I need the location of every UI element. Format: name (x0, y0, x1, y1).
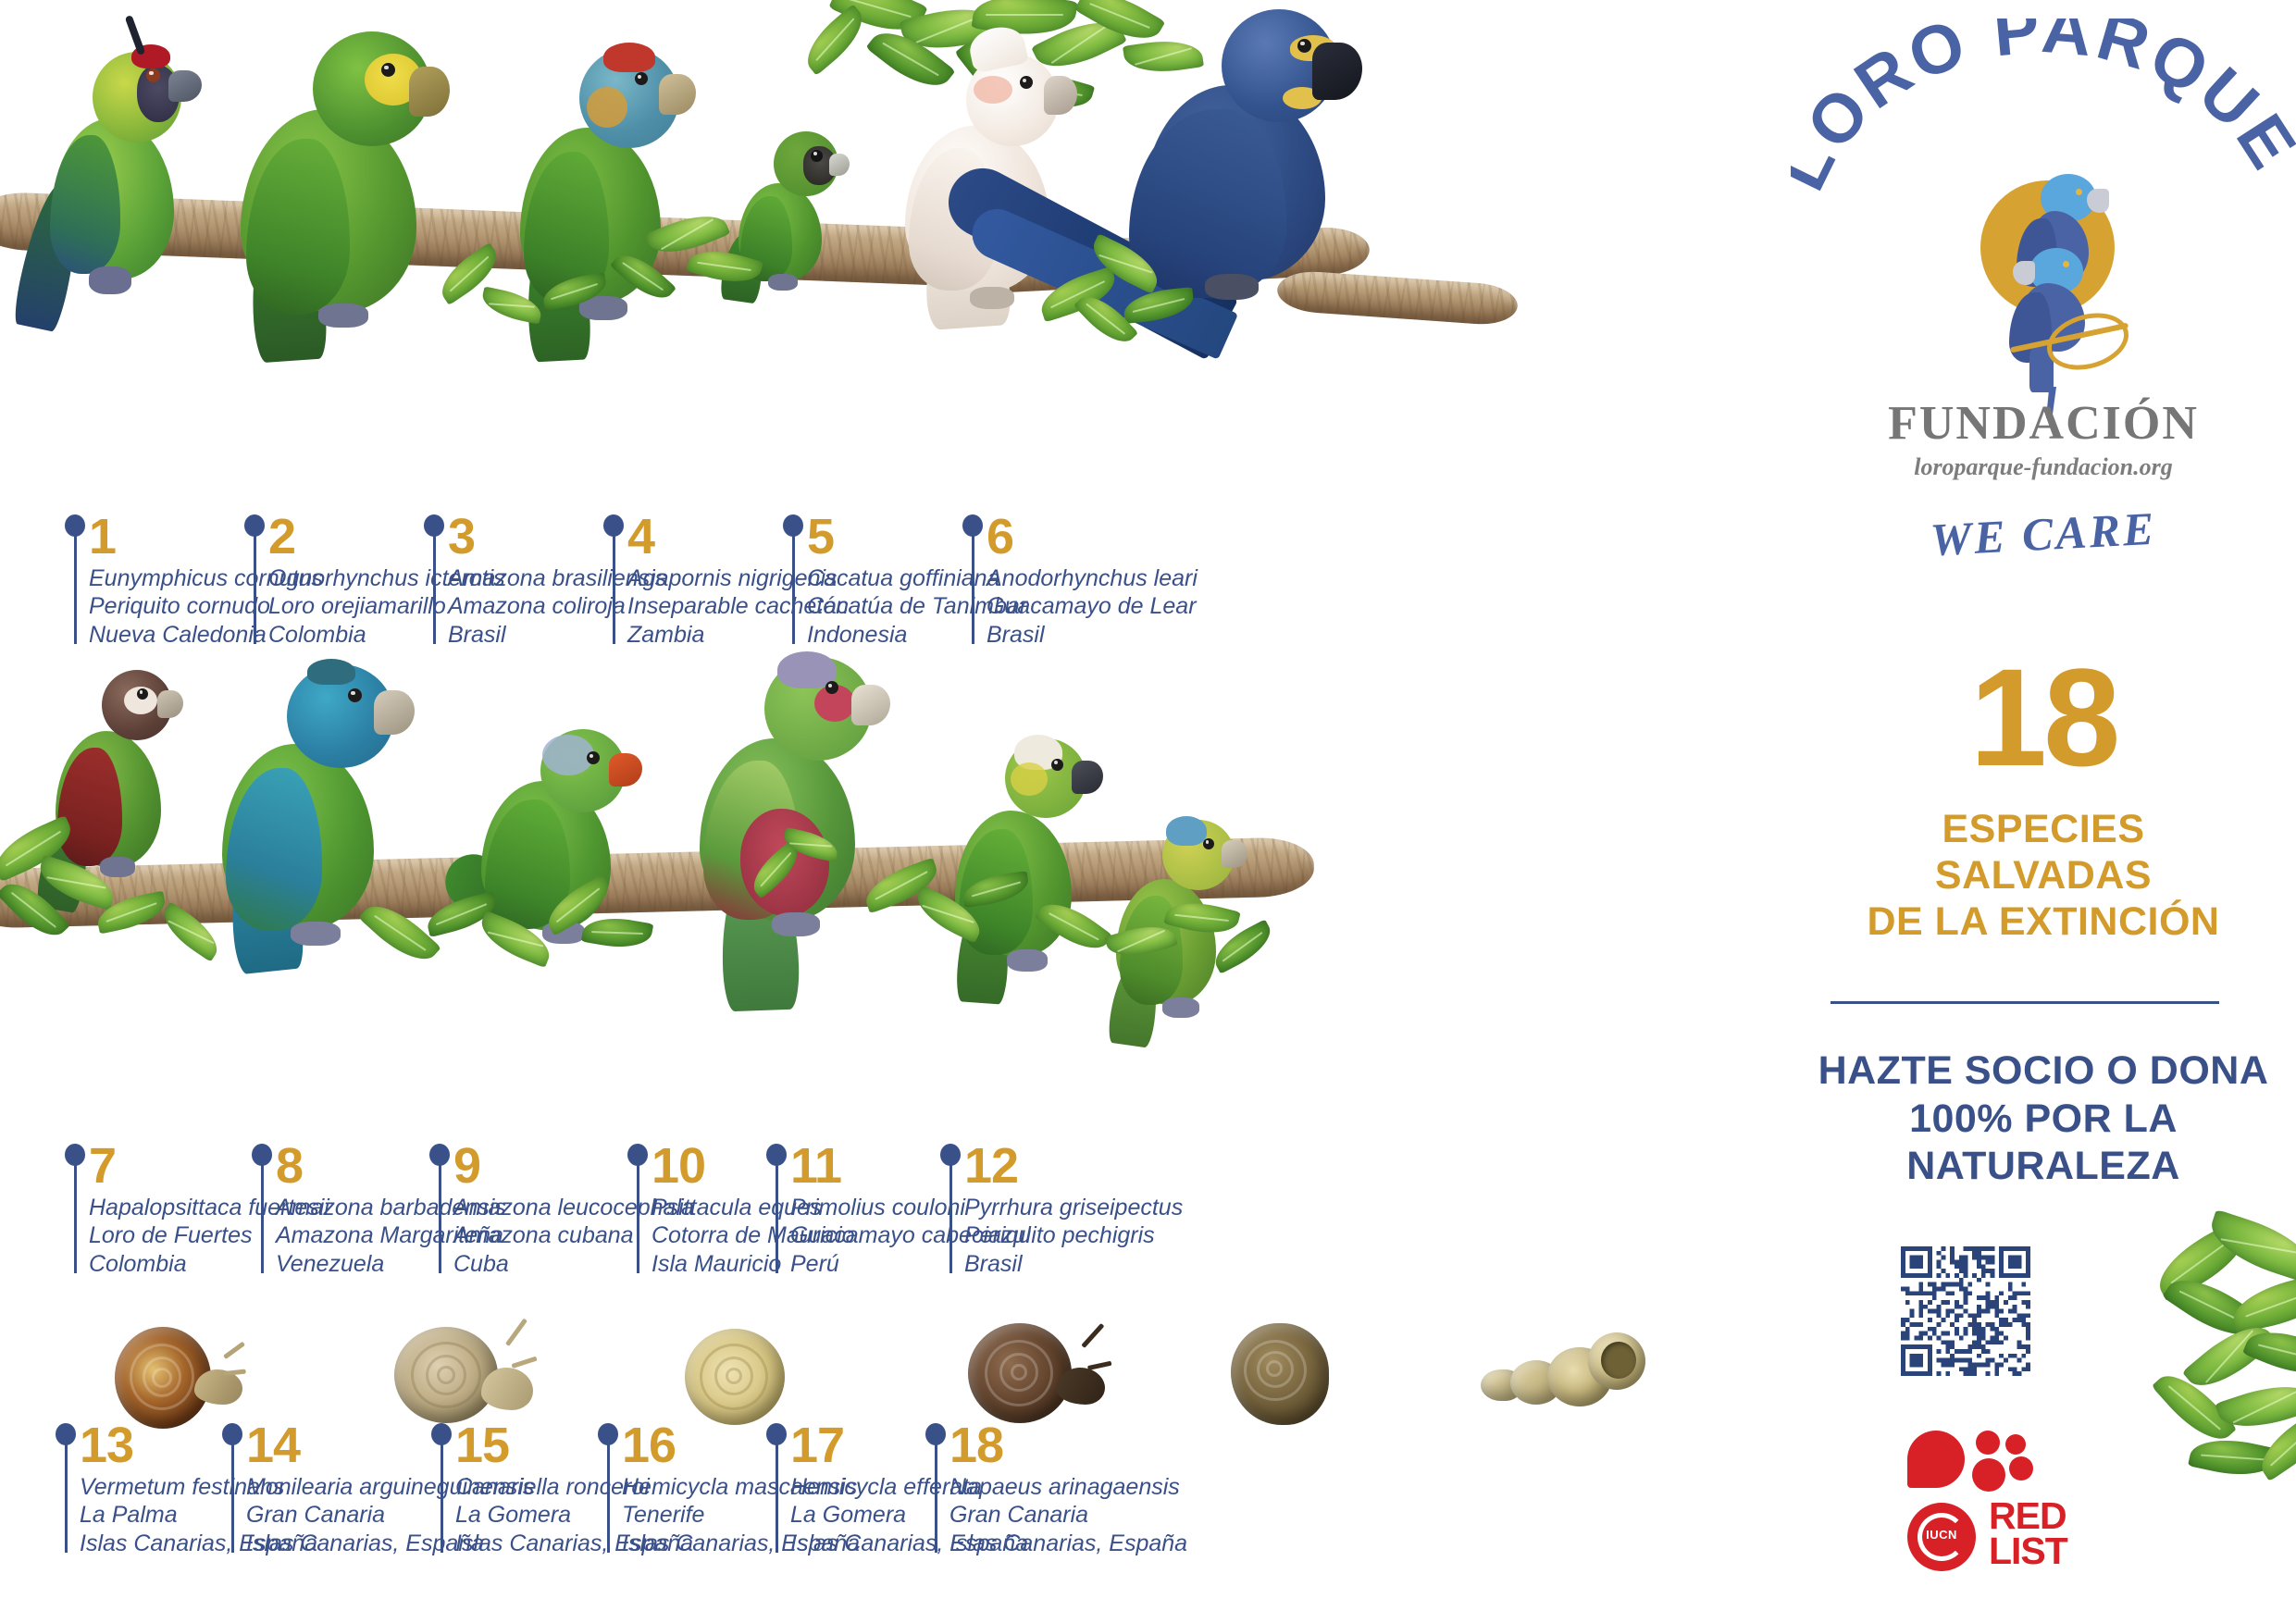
bird-photo-8-amazona-barbadensis (196, 648, 437, 953)
sidebar: LORO PARQUE FUNDA (1791, 0, 2296, 1623)
saved-line-1: ESPECIES (1791, 807, 2296, 853)
photo-band-middle (0, 685, 1791, 1147)
fundacion-url[interactable]: loroparque-fundacion.org (1791, 453, 2296, 481)
species-location-6: Brasil (987, 621, 1198, 650)
saved-line-2: SALVADAS (1791, 853, 2296, 899)
we-care-tagline: WE CARE (1790, 494, 2296, 574)
species-location-12: Brasil (964, 1250, 1183, 1279)
poster: 1Eunymphicus cornutusPeriquito cornudoNu… (0, 0, 2296, 1623)
iucn-label: IUCN (1907, 1528, 1976, 1542)
pin-stem (776, 1158, 778, 1273)
species-scientific-name-6: Anodorhynchus leari (987, 564, 1198, 593)
pin-stem (792, 529, 795, 644)
pin-stem (776, 1438, 778, 1553)
pin-stem (261, 1158, 264, 1273)
iucn-red-list-logo: IUCN RED LIST (1907, 1431, 2092, 1588)
pin-marker-13 (56, 1423, 76, 1562)
donation-qr-code[interactable] (1901, 1246, 2030, 1376)
pin-marker-12 (940, 1144, 961, 1282)
pin-marker-16 (598, 1423, 618, 1562)
snail-photo-13-vermetum-festinans (109, 1323, 248, 1432)
pin-marker-14 (222, 1423, 242, 1562)
bird-photo-2-ognorhynchus-icterotis (209, 9, 478, 342)
pin-marker-8 (252, 1144, 272, 1282)
pin-stem (74, 529, 77, 644)
pin-stem (637, 1158, 639, 1273)
pin-marker-2 (244, 514, 265, 653)
pin-marker-4 (603, 514, 624, 653)
redlist-word-list: LIST (1989, 1534, 2067, 1569)
bird-photo-1-eunymphicus-cornutus (20, 19, 215, 315)
pin-stem (613, 529, 615, 644)
redlist-berry-1 (1976, 1431, 2000, 1455)
species-common-name-18: Gran Canaria (949, 1501, 1187, 1530)
pin-stem (231, 1438, 234, 1553)
redlist-drop-icon (1907, 1431, 1965, 1488)
species-number-18: 18 (949, 1423, 1187, 1469)
species-label-6: 6Anodorhynchus leariGuacamayo de LearBra… (962, 514, 1198, 649)
loro-parque-logo[interactable]: LORO PARQUE (1791, 19, 2296, 389)
pin-marker-18 (925, 1423, 946, 1562)
pin-marker-11 (766, 1144, 787, 1282)
pin-marker-1 (65, 514, 85, 653)
species-common-name-6: Guacamayo de Lear (987, 592, 1198, 621)
pin-marker-6 (962, 514, 983, 653)
cta-line-2: 100% POR LA (1791, 1096, 2296, 1144)
iucn-circle-icon: IUCN (1907, 1503, 1976, 1571)
pin-marker-7 (65, 1144, 85, 1282)
pin-stem (74, 1158, 77, 1273)
photo-band-snails (0, 1321, 1791, 1432)
pin-marker-15 (431, 1423, 452, 1562)
qr-code-image (1901, 1246, 2030, 1376)
pin-stem (972, 529, 974, 644)
saved-line-3: DE LA EXTINCIÓN (1791, 899, 2296, 946)
pin-stem (439, 1158, 441, 1273)
saved-species-caption: ESPECIES SALVADAS DE LA EXTINCIÓN (1791, 807, 2296, 946)
pin-marker-5 (783, 514, 803, 653)
cta-line-1: HAZTE SOCIO O DONA (1791, 1047, 2296, 1096)
pin-marker-10 (627, 1144, 648, 1282)
cta-line-3: NATURALEZA (1791, 1143, 2296, 1191)
species-number-6: 6 (987, 514, 1198, 561)
pin-stem (935, 1438, 937, 1553)
species-label-12: 12Pyrrhura griseipectusPeriquito pechigr… (940, 1144, 1183, 1278)
donation-call-to-action: HAZTE SOCIO O DONA 100% POR LA NATURALEZ… (1791, 1047, 2296, 1191)
pin-stem (254, 529, 256, 644)
species-label-18: 18Napaeus arinagaensisGran CanariaIslas … (925, 1423, 1187, 1557)
snail-photo-17-hemicycla-efferata (1231, 1323, 1351, 1431)
fundacion-wordmark: FUNDACIÓN (1791, 396, 2296, 451)
species-scientific-name-18: Napaeus arinagaensis (949, 1473, 1187, 1502)
pin-marker-17 (766, 1423, 787, 1562)
snail-photo-18-napaeus-arinagaensis (1481, 1329, 1647, 1421)
pin-marker-3 (424, 514, 444, 653)
snail-photo-16-hemicycla-mascaensis (968, 1321, 1116, 1431)
redlist-berry-4 (2009, 1456, 2033, 1481)
redlist-berry-2 (2005, 1434, 2026, 1455)
bird-photo-10-psittacula-eques (676, 642, 907, 1012)
pin-marker-9 (429, 1144, 450, 1282)
saved-species-count: 18 (1791, 648, 2296, 787)
species-common-name-12: Periquito pechigris (964, 1221, 1183, 1250)
bird-photo-11-primolius-couloni (935, 731, 1120, 990)
pin-stem (441, 1438, 443, 1553)
redlist-wordmark: RED LIST (1989, 1499, 2067, 1568)
redlist-berry-3 (1972, 1458, 2005, 1492)
photo-band-top (0, 0, 1791, 518)
species-showcase: 1Eunymphicus cornutusPeriquito cornudoNu… (0, 0, 1791, 1623)
sidebar-divider (1831, 1001, 2219, 1004)
sidebar-foliage-decoration (2142, 1231, 2296, 1623)
pin-stem (433, 529, 436, 644)
species-scientific-name-12: Pyrrhura griseipectus (964, 1194, 1183, 1222)
snail-photo-14-monilearia-arguineguinensis (391, 1325, 539, 1432)
pin-stem (607, 1438, 610, 1553)
species-number-12: 12 (964, 1144, 1183, 1190)
bird-photo-6-anodorhynchus-leari (1064, 0, 1434, 481)
snail-photo-15-canariella-ronceroi (685, 1329, 805, 1431)
pin-stem (65, 1438, 68, 1553)
pin-stem (949, 1158, 952, 1273)
species-location-18: Islas Canarias, España (949, 1530, 1187, 1558)
